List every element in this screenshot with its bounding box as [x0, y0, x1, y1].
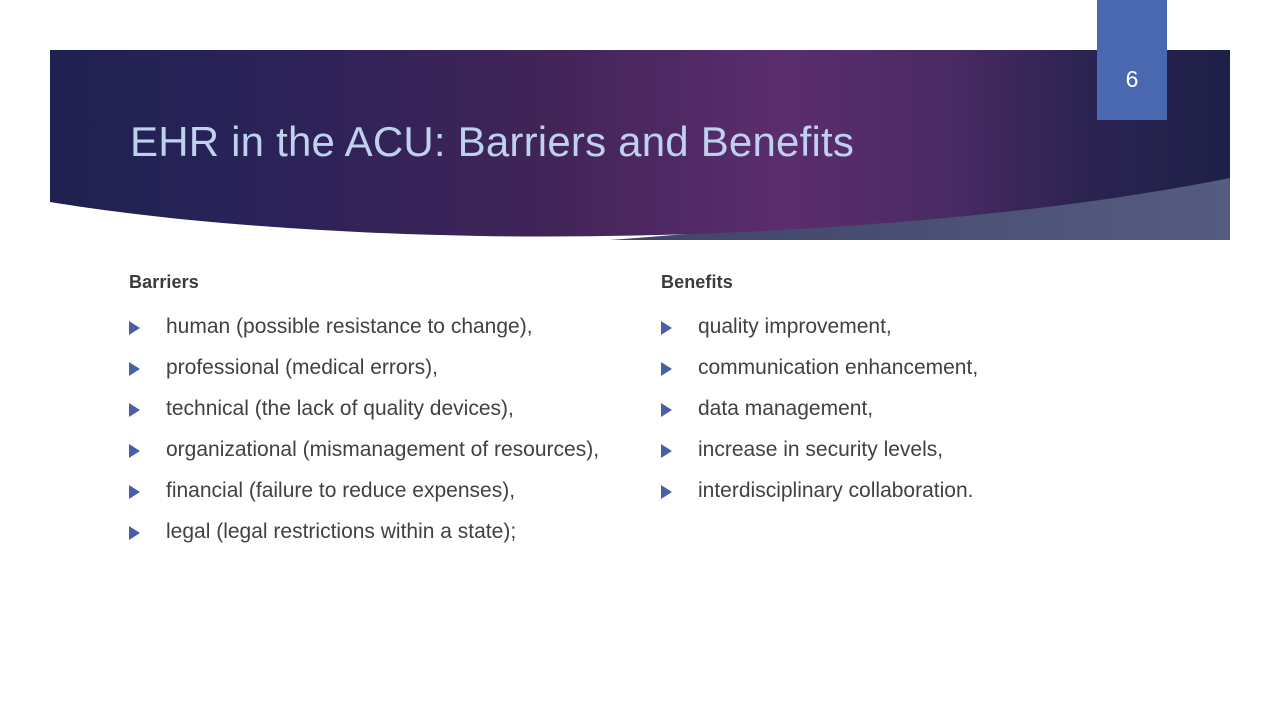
presentation-slide: EHR in the ACU: Barriers and Benefits 6 … — [0, 0, 1280, 720]
list-item: human (possible resistance to change), — [129, 313, 639, 341]
triangle-bullet-icon — [129, 321, 140, 335]
triangle-bullet-icon — [129, 526, 140, 540]
column-benefits-heading: Benefits — [661, 270, 1181, 294]
slide-number-badge: 6 — [1097, 0, 1167, 120]
page-title: EHR in the ACU: Barriers and Benefits — [130, 112, 1030, 172]
slide-number-value: 6 — [1097, 68, 1167, 91]
list-item-label: increase in security levels, — [698, 436, 1181, 464]
list-item-label: communication enhancement, — [698, 354, 1181, 382]
list-item: communication enhancement, — [661, 354, 1181, 382]
list-item: technical (the lack of quality devices), — [129, 395, 639, 423]
list-item: data management, — [661, 395, 1181, 423]
triangle-bullet-icon — [661, 444, 672, 458]
triangle-bullet-icon — [129, 362, 140, 376]
list-item: organizational (mismanagement of resourc… — [129, 436, 639, 464]
benefits-bullet-list: quality improvement, communication enhan… — [661, 313, 1181, 505]
list-item-label: human (possible resistance to change), — [166, 313, 639, 341]
triangle-bullet-icon — [661, 321, 672, 335]
list-item-label: financial (failure to reduce expenses), — [166, 477, 639, 505]
list-item-label: interdisciplinary collaboration. — [698, 477, 1181, 505]
list-item-label: technical (the lack of quality devices), — [166, 395, 639, 423]
triangle-bullet-icon — [129, 403, 140, 417]
slide-content: Barriers human (possible resistance to c… — [0, 270, 1280, 690]
list-item-label: organizational (mismanagement of resourc… — [166, 436, 639, 464]
list-item-label: legal (legal restrictions within a state… — [166, 518, 639, 546]
column-barriers: Barriers human (possible resistance to c… — [129, 270, 639, 559]
list-item: professional (medical errors), — [129, 354, 639, 382]
triangle-bullet-icon — [661, 362, 672, 376]
list-item: increase in security levels, — [661, 436, 1181, 464]
column-benefits: Benefits quality improvement, communicat… — [661, 270, 1181, 518]
list-item-label: data management, — [698, 395, 1181, 423]
triangle-bullet-icon — [129, 485, 140, 499]
list-item: interdisciplinary collaboration. — [661, 477, 1181, 505]
column-barriers-heading: Barriers — [129, 270, 639, 294]
list-item-label: quality improvement, — [698, 313, 1181, 341]
list-item-label: professional (medical errors), — [166, 354, 639, 382]
list-item: legal (legal restrictions within a state… — [129, 518, 639, 546]
barriers-bullet-list: human (possible resistance to change), p… — [129, 313, 639, 546]
triangle-bullet-icon — [661, 403, 672, 417]
triangle-bullet-icon — [661, 485, 672, 499]
list-item: quality improvement, — [661, 313, 1181, 341]
list-item: financial (failure to reduce expenses), — [129, 477, 639, 505]
triangle-bullet-icon — [129, 444, 140, 458]
